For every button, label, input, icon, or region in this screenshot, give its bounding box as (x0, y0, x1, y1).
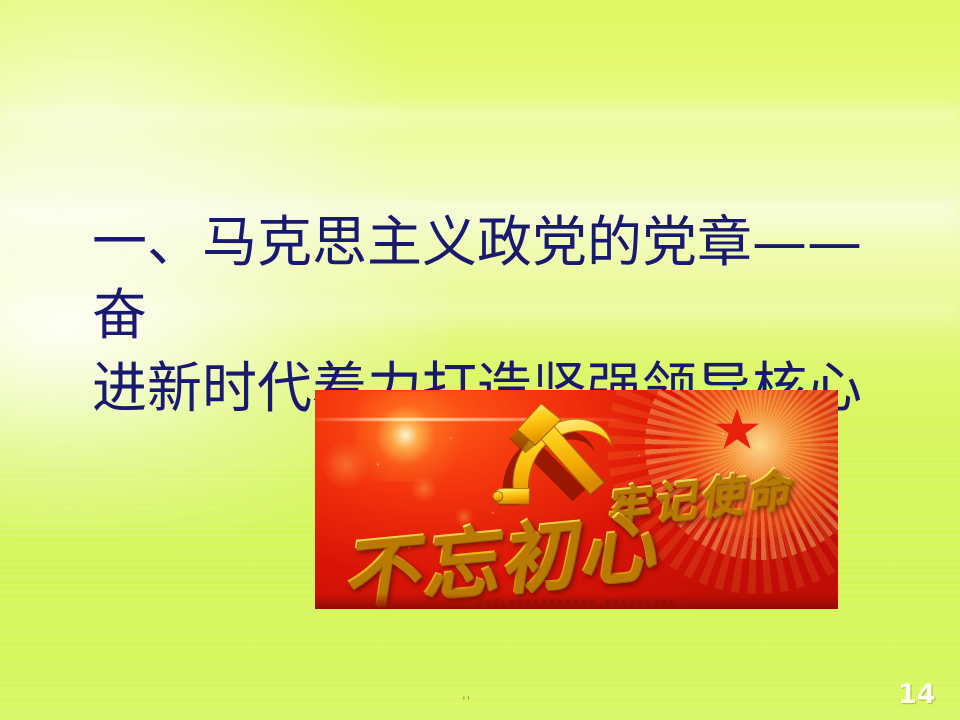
footer-mark: ,, (462, 686, 471, 701)
banner-caption: 不忘初心牢记使命主题教育宣传栏 党建文化墙设计展板 (315, 598, 838, 608)
slide-title-line-1: 一、马克思主义政党的党章——奋 (92, 210, 862, 347)
banner-lens-flare (355, 392, 475, 482)
slide-canvas: 一、马克思主义政党的党章——奋进新时代着力打造坚强领导核心 (0, 0, 960, 720)
page-number: 14 (898, 679, 936, 710)
banner-image: 牢记使命 不忘初心 不忘初心牢记使命主题教育宣传栏 党建文化墙设计展板 (315, 390, 838, 609)
